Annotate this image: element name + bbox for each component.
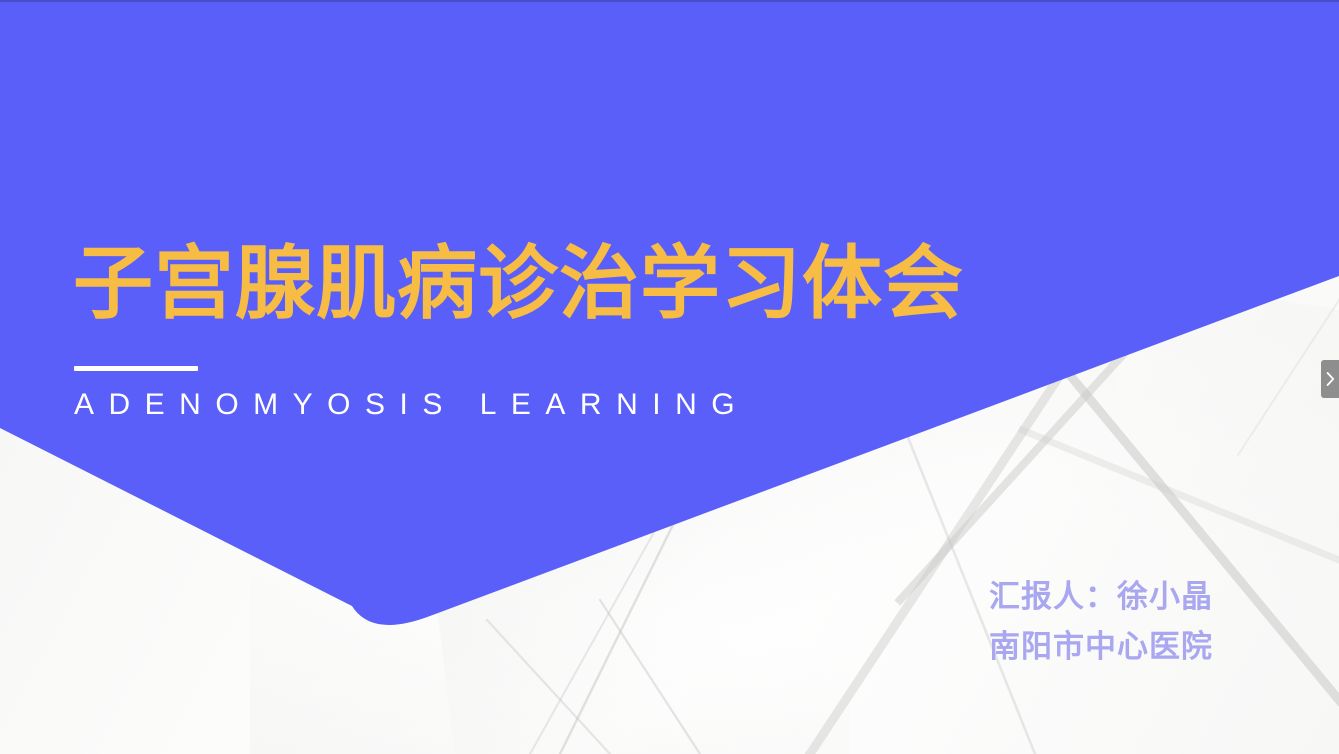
presenter-block: 汇报人：徐小晶 南阳市中心医院 xyxy=(989,572,1213,672)
chevron-right-icon xyxy=(1326,372,1335,386)
slide-subtitle: ADENOMYOSIS LEARNING xyxy=(74,387,1073,423)
presentation-slide: 子宫腺肌病诊治学习体会 ADENOMYOSIS LEARNING 汇报人：徐小晶… xyxy=(0,0,1339,754)
top-edge-hairline xyxy=(0,0,1339,2)
title-divider-rule xyxy=(74,366,198,371)
presenter-name: 汇报人：徐小晶 xyxy=(989,572,1213,622)
next-slide-button[interactable] xyxy=(1321,360,1339,398)
presenter-affiliation: 南阳市中心医院 xyxy=(989,622,1213,672)
title-block: 子宫腺肌病诊治学习体会 ADENOMYOSIS LEARNING xyxy=(73,236,1073,423)
page-title: 子宫腺肌病诊治学习体会 xyxy=(73,236,1073,332)
